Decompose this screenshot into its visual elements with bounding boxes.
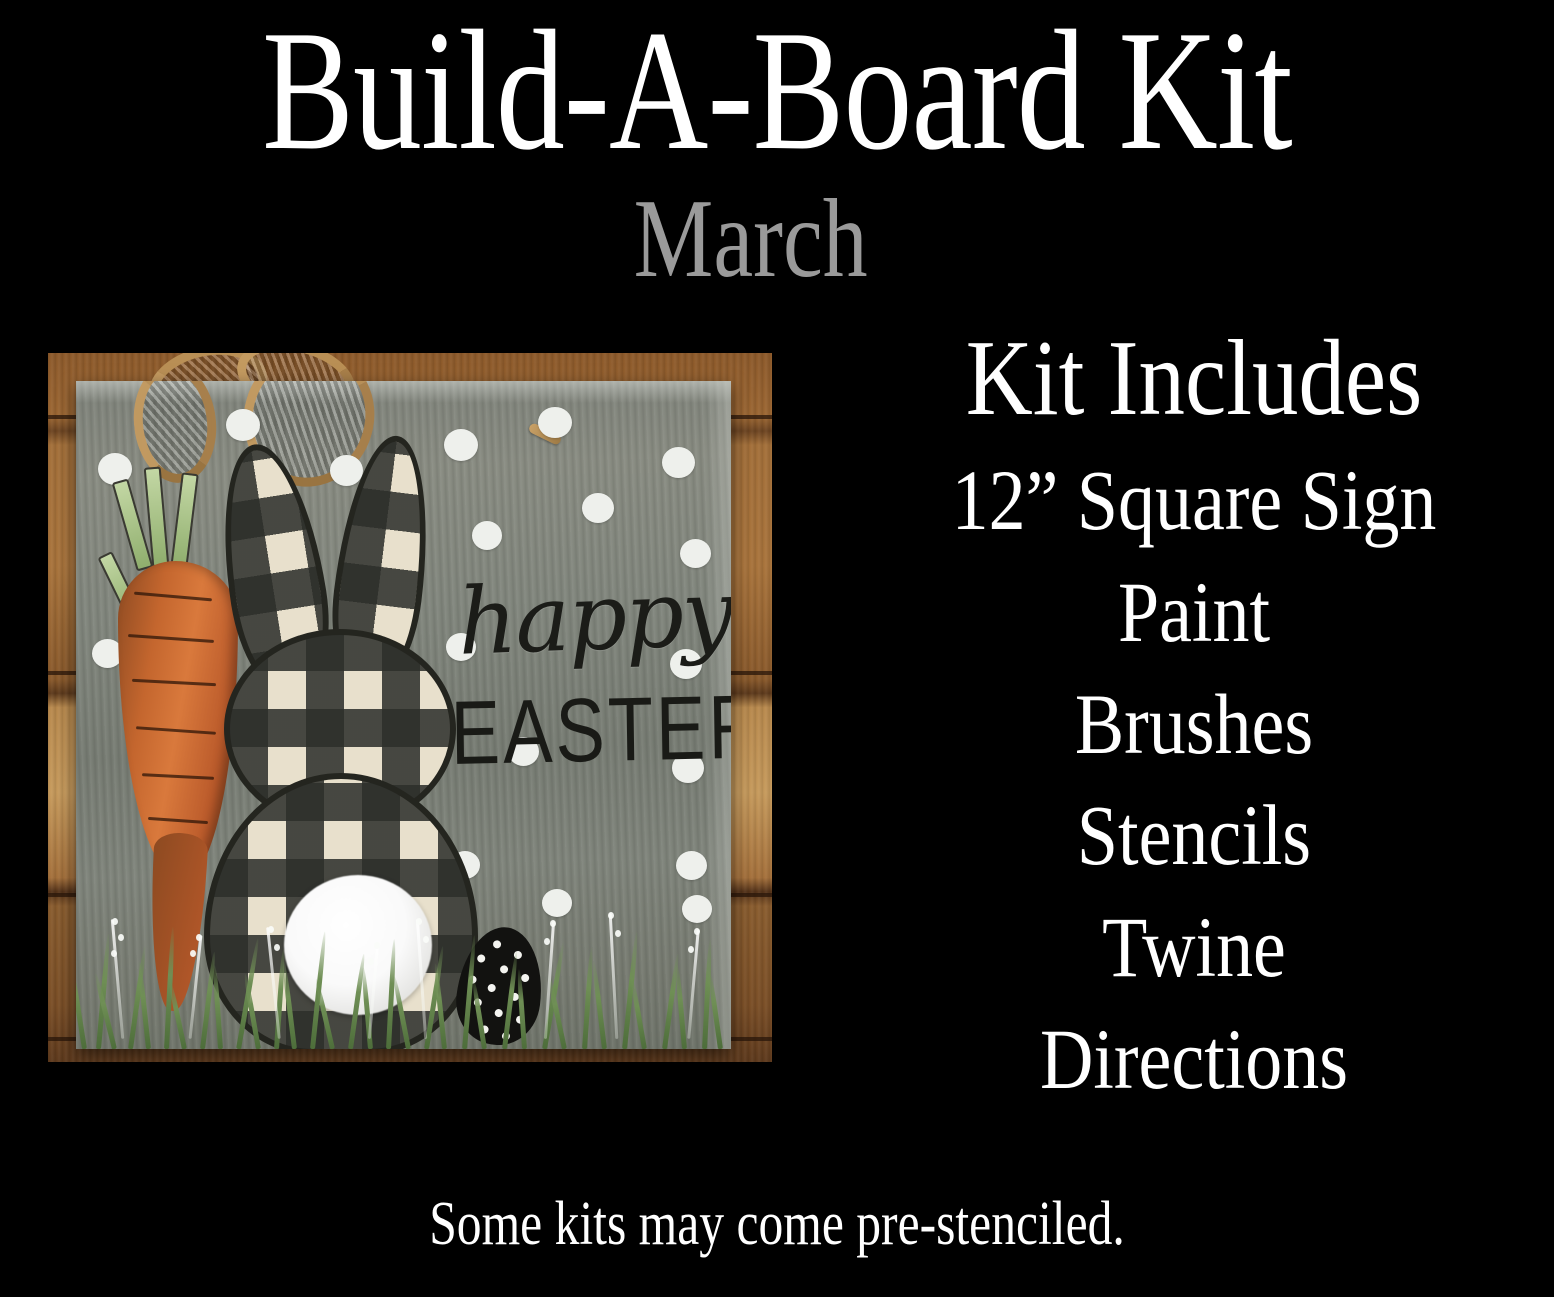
list-item: Twine	[888, 892, 1500, 1004]
polka-dot	[444, 429, 478, 461]
flower-sprig	[111, 919, 124, 1039]
page-subtitle-month: March	[129, 183, 1372, 295]
polka-dot	[226, 409, 260, 441]
kit-includes-heading: Kit Includes	[888, 325, 1500, 433]
polka-dot	[582, 493, 614, 523]
flower-sprig	[687, 929, 700, 1039]
disclaimer-text: Some kits may come pre-stenciled.	[155, 1193, 1398, 1255]
polka-dot	[330, 455, 363, 486]
list-item: Paint	[888, 557, 1500, 669]
flower-sprig	[544, 921, 555, 1039]
polka-dot	[682, 895, 712, 923]
product-photo: happy EASTER	[48, 353, 772, 1062]
flower-sprig	[609, 913, 619, 1039]
kit-includes-list: 12” Square Sign Paint Brushes Stencils T…	[838, 445, 1550, 1116]
bunny-pompom-tail	[284, 875, 432, 1015]
list-item: 12” Square Sign	[888, 445, 1500, 557]
kit-includes-column: Kit Includes 12” Square Sign Paint Brush…	[838, 325, 1550, 1116]
list-item: Directions	[888, 1004, 1500, 1116]
polka-dot	[662, 447, 695, 478]
polka-dot	[472, 521, 502, 550]
poster-canvas: Build-A-Board Kit March	[0, 0, 1554, 1297]
poster-headline: Build-A-Board Kit March	[0, 10, 1554, 295]
carrot-tip	[145, 832, 208, 1013]
carrot-greens	[170, 472, 199, 569]
polka-dot	[542, 889, 572, 917]
polka-dot	[676, 851, 707, 880]
sign-caps-text: EASTER	[450, 674, 731, 784]
sign-script-text: happy	[456, 559, 731, 675]
list-item: Stencils	[888, 780, 1500, 892]
list-item: Brushes	[888, 669, 1500, 781]
twine-tail	[128, 381, 222, 487]
polka-dot	[538, 407, 572, 438]
page-title: Build-A-Board Kit	[155, 10, 1398, 173]
easter-sign-board: happy EASTER	[76, 381, 731, 1049]
